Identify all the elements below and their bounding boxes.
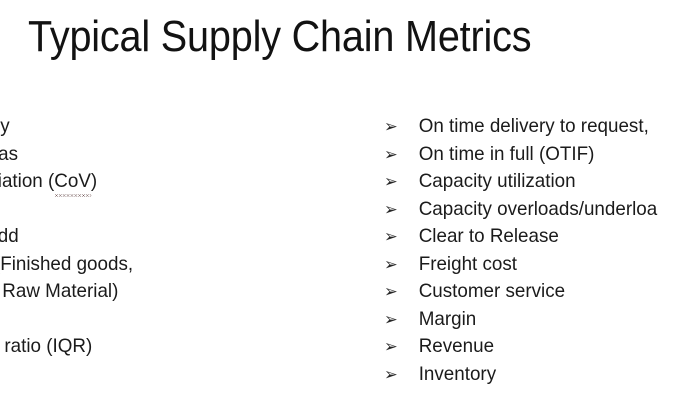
list-item: ➢ Margin — [383, 306, 673, 334]
arrow-bullet-icon: ➢ — [384, 168, 405, 196]
metric-label: Inventory — [419, 363, 496, 385]
arrow-bullet-icon: ➢ — [384, 141, 405, 169]
list-item: ➢ Inventory — [383, 361, 673, 389]
list-item: tory Quality ratio (IQR) — [0, 333, 290, 361]
metric-label: ast accuracy — [0, 115, 10, 137]
list-item: ➢ On time in full (OTIF) — [383, 141, 673, 169]
slide-canvas: Typical Supply Chain Metrics ast accurac… — [0, 0, 675, 415]
arrow-bullet-icon: ➢ — [384, 196, 405, 224]
metric-label: Clear to Release — [419, 225, 559, 247]
arrow-bullet-icon: ➢ — [384, 361, 405, 389]
list-item: ➢ Customer service — [383, 278, 673, 306]
arrow-bullet-icon: ➢ — [384, 251, 405, 279]
list-item: o serve — [0, 196, 290, 224]
arrow-bullet-icon: ➢ — [384, 306, 405, 334]
list-item: ➢ Revenue — [383, 333, 673, 361]
list-item: ng Capital (Finished goods, — [0, 251, 290, 279]
arrow-bullet-icon: ➢ — [384, 333, 405, 361]
metric-label-suffix: ) — [91, 170, 97, 192]
page-title: Typical Supply Chain Metrics — [28, 9, 604, 65]
metric-label: On time delivery to request, — [419, 115, 649, 137]
arrow-bullet-icon: ➢ — [384, 113, 405, 141]
metric-label: Customer service — [419, 280, 565, 302]
metric-label: Capacity utilization — [419, 170, 576, 192]
list-item: ➢ Capacity overloads/underloa — [383, 196, 673, 224]
list-item: ➢ Clear to Release — [383, 223, 673, 251]
list-item: ➢ Freight cost — [383, 251, 673, 279]
list-item: d of Supply — [0, 361, 290, 389]
list-item: ast accuracy — [0, 113, 290, 141]
metric-label: Freight cost — [419, 253, 517, 275]
list-item: in Process, Raw Material) — [0, 278, 290, 306]
left-metrics-column: ast accuracy ast error, bias cient of Va… — [0, 113, 304, 388]
metric-label: tory Quality ratio (IQR) — [0, 335, 92, 357]
metric-label: On time in full (OTIF) — [419, 143, 595, 165]
metric-label: Margin — [419, 308, 477, 330]
right-metrics-column: ➢ On time delivery to request, ➢ On time… — [383, 113, 675, 388]
arrow-bullet-icon: ➢ — [384, 223, 405, 251]
list-item: ast error, bias — [0, 141, 290, 169]
list-item: tory turns — [0, 306, 290, 334]
list-item: ➢ Capacity utilization — [383, 168, 673, 196]
arrow-bullet-icon: ➢ — [384, 278, 405, 306]
metric-label: Capacity overloads/underloa — [419, 198, 658, 220]
spellcheck-flagged-term: CoV — [54, 168, 91, 196]
metric-label: ng Capital (Finished goods, — [0, 253, 133, 275]
metric-label: ast Value Add — [0, 225, 19, 247]
metric-label: cient of Variation ( — [0, 170, 54, 192]
list-item: ast Value Add — [0, 223, 290, 251]
list-item: ➢ On time delivery to request, — [383, 113, 673, 141]
list-item: cient of Variation (CoV) — [0, 168, 290, 196]
metric-label: in Process, Raw Material) — [0, 280, 118, 302]
metric-label: Revenue — [419, 335, 494, 357]
metric-label: ast error, bias — [0, 143, 18, 165]
